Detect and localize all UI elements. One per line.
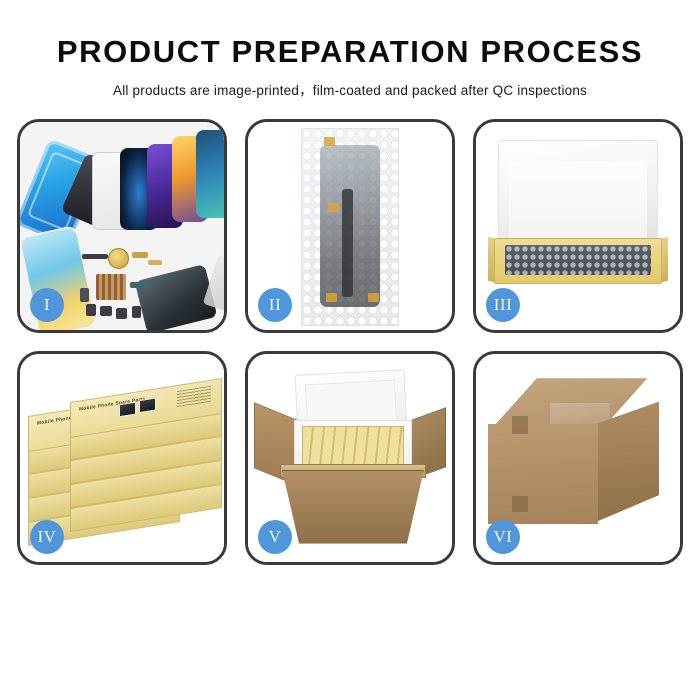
carton-packing-image: V: [248, 354, 452, 562]
small-part: [100, 306, 112, 316]
small-part: [148, 260, 162, 265]
bubble-wrap-image: II: [248, 122, 452, 330]
tape-piece: [326, 293, 337, 302]
process-step-panel-5: V: [245, 351, 455, 565]
box-label-screen-image: [139, 397, 156, 413]
step-badge-1: I: [30, 288, 64, 322]
phone-screen-teal: [196, 130, 224, 218]
yellow-box: [494, 238, 662, 284]
process-step-panel-1: I: [17, 119, 227, 333]
bubble-wrap-bag: [301, 128, 399, 326]
foam-box-image: III: [476, 122, 680, 330]
box-label-screen-image: [119, 401, 136, 417]
small-part: [82, 254, 108, 259]
small-part: [116, 308, 127, 319]
step-badge-6: VI: [486, 520, 520, 554]
step-badge-2: II: [258, 288, 292, 322]
small-part: [132, 306, 141, 318]
process-step-panel-2: II: [245, 119, 455, 333]
process-step-grid: I II: [17, 119, 683, 565]
tape-piece: [328, 203, 339, 212]
small-part: [86, 304, 96, 316]
step-badge-3: III: [486, 288, 520, 322]
step-badge-5: V: [258, 520, 292, 554]
yellow-boxes-inside: [302, 426, 404, 468]
process-step-panel-4: Mobile Phone Spare Parts Mobile Phone Sp…: [17, 351, 227, 565]
chip-array-part: [96, 274, 126, 300]
tape-mark: [512, 416, 528, 434]
carton-body: [282, 470, 424, 544]
flex-cable-part: [130, 282, 152, 288]
header: PRODUCT PREPARATION PROCESS All products…: [0, 0, 700, 99]
product-preparation-infographic: PRODUCT PREPARATION PROCESS All products…: [0, 0, 700, 700]
sealed-carton-image: VI: [476, 354, 680, 562]
bubble-wrapped-contents: [505, 245, 651, 275]
small-part: [132, 252, 148, 258]
page-subtitle: All products are image-printed，film-coat…: [0, 79, 700, 99]
stacked-boxes-image: Mobile Phone Spare Parts Mobile Phone Sp…: [20, 354, 224, 562]
tape-piece: [368, 293, 379, 302]
page-title: PRODUCT PREPARATION PROCESS: [0, 36, 700, 69]
small-part: [80, 288, 89, 302]
white-foam-pad: [498, 140, 658, 246]
copper-coil-part: [108, 248, 129, 269]
process-step-panel-3: III: [473, 119, 683, 333]
phone-parts-image: I: [20, 122, 224, 330]
step-badge-4: IV: [30, 520, 64, 554]
process-step-panel-6: VI: [473, 351, 683, 565]
box-stack: Mobile Phone Spare Parts Mobile Phone Sp…: [28, 368, 224, 548]
tape-mark: [512, 496, 528, 512]
tape-piece: [324, 137, 335, 146]
display-flex-cable: [342, 189, 353, 297]
box-label-spec-lines: [177, 385, 211, 406]
carton-front-face: [488, 424, 598, 524]
